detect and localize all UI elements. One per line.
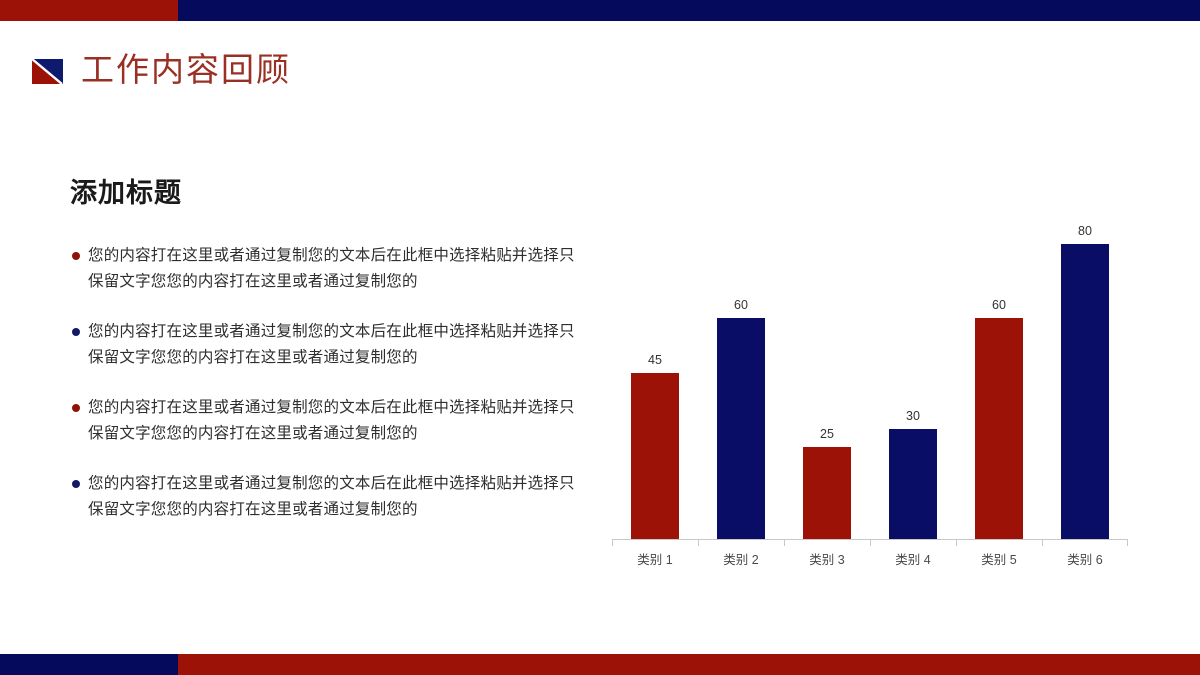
diagonal-split-square-icon	[32, 59, 63, 84]
bar-value-label: 30	[870, 409, 956, 423]
axis-tick	[870, 539, 871, 546]
bar-slot: 30	[870, 215, 956, 539]
bar-slot: 60	[956, 215, 1042, 539]
x-axis-label: 类别 4	[870, 549, 956, 568]
bar-value-label: 60	[956, 298, 1042, 312]
bar-category-6[interactable]	[1061, 244, 1109, 539]
bar-category-4[interactable]	[889, 429, 937, 539]
bar-slot: 60	[698, 215, 784, 539]
bar-value-label: 45	[612, 353, 698, 367]
list-item-text: 您的内容打在这里或者通过复制您的文本后在此框中选择粘贴并选择只保留文字您您的内容…	[88, 243, 580, 295]
bullet-dot-icon	[72, 252, 80, 260]
top-bar-red-segment	[0, 0, 178, 21]
list-item-text: 您的内容打在这里或者通过复制您的文本后在此框中选择粘贴并选择只保留文字您您的内容…	[88, 319, 580, 371]
axis-tick	[1127, 539, 1128, 546]
x-axis-label: 类别 1	[612, 549, 698, 568]
bullet-dot-icon	[72, 404, 80, 412]
list-item: 您的内容打在这里或者通过复制您的文本后在此框中选择粘贴并选择只保留文字您您的内容…	[70, 319, 580, 371]
chart-plot-area: 45 60 25 30 60 80	[612, 215, 1128, 539]
bottom-bar-red-segment	[178, 654, 1200, 675]
bar-chart: 45 60 25 30 60 80	[612, 215, 1128, 570]
list-item: 您的内容打在这里或者通过复制您的文本后在此框中选择粘贴并选择只保留文字您您的内容…	[70, 243, 580, 295]
section-title: 添加标题	[70, 180, 580, 207]
axis-tick	[1042, 539, 1043, 546]
x-axis-label: 类别 2	[698, 549, 784, 568]
list-item: 您的内容打在这里或者通过复制您的文本后在此框中选择粘贴并选择只保留文字您您的内容…	[70, 471, 580, 523]
slide-header: 工作内容回顾	[32, 55, 291, 88]
x-axis-label: 类别 6	[1042, 549, 1128, 568]
bar-category-1[interactable]	[631, 373, 679, 539]
axis-tick	[612, 539, 613, 546]
bar-value-label: 60	[698, 298, 784, 312]
bar-value-label: 80	[1042, 224, 1128, 238]
list-item: 您的内容打在这里或者通过复制您的文本后在此框中选择粘贴并选择只保留文字您您的内容…	[70, 395, 580, 447]
bar-slot: 25	[784, 215, 870, 539]
bullet-dot-icon	[72, 480, 80, 488]
axis-tick	[698, 539, 699, 546]
bullet-dot-icon	[72, 328, 80, 336]
list-item-text: 您的内容打在这里或者通过复制您的文本后在此框中选择粘贴并选择只保留文字您您的内容…	[88, 471, 580, 523]
bar-category-3[interactable]	[803, 447, 851, 539]
list-item-text: 您的内容打在这里或者通过复制您的文本后在此框中选择粘贴并选择只保留文字您您的内容…	[88, 395, 580, 447]
top-bar-navy-segment	[178, 0, 1200, 21]
bar-category-5[interactable]	[975, 318, 1023, 539]
bottom-bar-navy-segment	[0, 654, 178, 675]
axis-tick	[784, 539, 785, 546]
content-panel: 添加标题 您的内容打在这里或者通过复制您的文本后在此框中选择粘贴并选择只保留文字…	[70, 180, 580, 523]
page-title: 工作内容回顾	[81, 55, 291, 88]
bar-slot: 45	[612, 215, 698, 539]
x-axis-label: 类别 5	[956, 549, 1042, 568]
axis-tick	[956, 539, 957, 546]
bar-category-2[interactable]	[717, 318, 765, 539]
x-axis-label: 类别 3	[784, 549, 870, 568]
bar-value-label: 25	[784, 427, 870, 441]
slide-canvas: 工作内容回顾 添加标题 您的内容打在这里或者通过复制您的文本后在此框中选择粘贴并…	[0, 0, 1200, 675]
bar-slot: 80	[1042, 215, 1128, 539]
